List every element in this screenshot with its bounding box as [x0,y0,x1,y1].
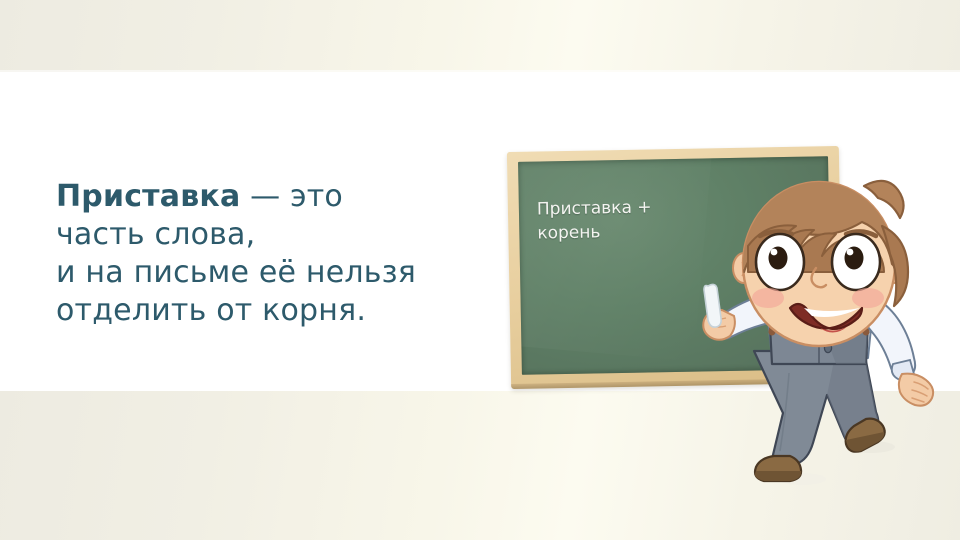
definition-text-block: Приставка — это часть слова, и на письме… [56,178,526,330]
term-pristavka: Приставка [56,179,240,214]
cheek-right [852,288,884,308]
cheek-left [752,288,784,308]
definition-line-1-rest: — это [240,179,343,214]
top-decorative-band [0,0,960,72]
slide-canvas: Приставка — это часть слова, и на письме… [0,0,960,540]
shoe-left-sole [755,471,801,481]
definition-line-1: Приставка — это [56,178,526,216]
definition-line-2: часть слова, [56,216,526,254]
eye-highlight-left [771,249,778,256]
schoolboy-illustration [686,168,960,540]
eye-highlight-right [847,249,854,256]
definition-line-4: отделить от корня. [56,292,526,330]
definition-line-3: и на письме её нельзя [56,254,526,292]
